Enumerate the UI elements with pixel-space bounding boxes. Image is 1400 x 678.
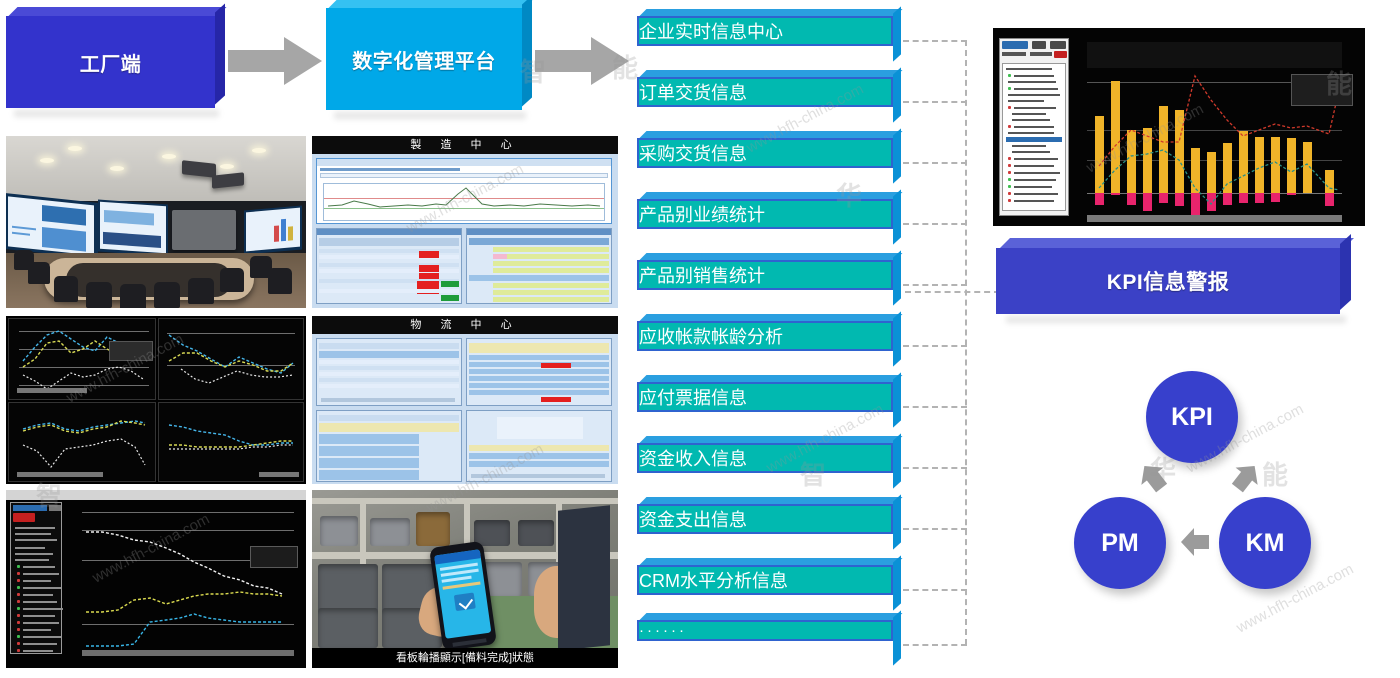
cycle-arrow-pm-to-kpi-icon [1132,456,1174,498]
factory-box-label: 工厂端 [6,16,215,108]
info-item-label: 应收帐款帐龄分析 [637,321,893,351]
room-display-2 [98,200,168,257]
dashed-branch-2 [903,162,967,164]
platform-box-top-bevel [329,0,534,8]
dashed-branch-5 [903,345,967,347]
kpi-alert-right-bevel [1340,234,1351,310]
kanban-caption: 看板輪播顯示[備料完成]狀態 [312,648,618,668]
kpi-alert-top-bevel [1000,238,1354,248]
cycle-arrow-km-to-kpi-icon [1225,456,1267,498]
info-item-10[interactable]: ······ [637,620,893,668]
dashed-branch-8 [903,528,967,530]
dashed-branch-7 [903,467,967,469]
info-item-5[interactable]: 应收帐款帐龄分析 [637,321,893,369]
platform-box-label: 数字化管理平台 [326,8,522,110]
chart-pane-4 [158,402,304,482]
logi-pane-1 [316,338,462,406]
factory-box[interactable]: 工厂端 [6,16,215,108]
thumbnail-trend-dashboard[interactable] [6,490,306,668]
room-display-3 [244,205,302,254]
info-item-1[interactable]: 订单交货信息 [637,77,893,125]
factory-box-right-bevel [215,3,225,104]
info-item-label: ······ [637,620,893,641]
dashed-branch-3 [903,223,967,225]
logi-pane-4 [466,410,612,482]
dashed-branch-6 [903,406,967,408]
chart-pane-2 [158,318,304,400]
info-item-2[interactable]: 采购交货信息 [637,138,893,186]
room-display-1 [6,193,98,259]
info-item-label: 资金支出信息 [637,504,893,534]
dashed-branch-4 [903,284,967,286]
thumbnail-logistics-center[interactable]: 物 流 中 心 [312,316,618,484]
diagram-canvas: 工厂端 数字化管理平台 企业实时信息中心 订单交货信息 采购交货信息 产品别业绩… [0,0,1400,678]
cycle-node-label: KM [1246,529,1285,558]
room-ceiling [6,136,306,201]
info-item-4[interactable]: 产品别销售统计 [637,260,893,308]
dashed-branch-9 [903,589,967,591]
info-item-3[interactable]: 产品别业绩统计 [637,199,893,247]
thumbnail-manufacturing-center[interactable]: 製 造 中 心 [312,136,618,308]
mfg-title: 製 造 中 心 [312,136,618,154]
chart-pane-3 [8,402,156,482]
kpi-alert-shadow [1006,316,1346,323]
platform-box-right-bevel [522,0,532,107]
thumbnail-control-room[interactable] [6,136,306,308]
thumbnail-bi-dashboard[interactable] [993,28,1365,226]
info-item-8[interactable]: 资金支出信息 [637,504,893,552]
bi-tree-panel [999,38,1069,216]
cycle-node-label: KPI [1171,403,1213,432]
info-item-6[interactable]: 应付票据信息 [637,382,893,430]
platform-box[interactable]: 数字化管理平台 [326,8,522,110]
info-item-label: 采购交货信息 [637,138,893,168]
info-item-label: 订单交货信息 [637,77,893,107]
dashed-bus-line [965,40,967,645]
kpi-alert-box[interactable]: KPI信息警报 [996,248,1340,314]
arrow-right-icon-1 [228,37,322,85]
logistics-title: 物 流 中 心 [312,316,618,334]
mfg-table-right [466,228,612,304]
cycle-arrow-km-to-pm-icon [1180,527,1210,557]
mfg-trend-chart [316,158,612,224]
info-item-label: 产品别业绩统计 [637,199,893,229]
info-item-label: CRM水平分析信息 [637,565,893,595]
logi-pane-2 [466,338,612,406]
arrow-right-icon-2 [535,37,629,85]
info-item-label: 产品别销售统计 [637,260,893,290]
info-item-0[interactable]: 企业实时信息中心 [637,16,893,64]
dashed-branch-1 [903,101,967,103]
info-item-label: 应付票据信息 [637,382,893,412]
bi-chart-area [1077,38,1359,210]
dashed-branch-0 [903,40,967,42]
kpi-alert-label: KPI信息警报 [996,248,1340,314]
dashed-branch-10 [903,644,967,646]
factory-box-shadow [14,110,219,117]
logi-pane-3 [316,410,462,482]
trend-tree-panel [10,502,62,654]
factory-box-top-bevel [9,7,227,16]
info-item-9[interactable]: CRM水平分析信息 [637,565,893,613]
mfg-table-left [316,228,462,304]
cycle-node-pm[interactable]: PM [1074,497,1166,589]
cycle-node-km[interactable]: KM [1219,497,1311,589]
photo-person [558,505,610,650]
thumbnail-kanban-photo[interactable]: 看板輪播顯示[備料完成]狀態 [312,490,618,668]
thumbnail-line-charts[interactable] [6,316,306,484]
chart-pane-1 [8,318,156,400]
info-item-label: 资金收入信息 [637,443,893,473]
dashed-link-to-kpi-alert [905,291,1000,293]
cycle-node-kpi[interactable]: KPI [1146,371,1238,463]
trend-chart-area [68,502,302,656]
info-item-7[interactable]: 资金收入信息 [637,443,893,491]
cycle-node-label: PM [1101,529,1139,558]
info-item-label: 企业实时信息中心 [637,16,893,46]
platform-box-shadow [334,112,526,119]
